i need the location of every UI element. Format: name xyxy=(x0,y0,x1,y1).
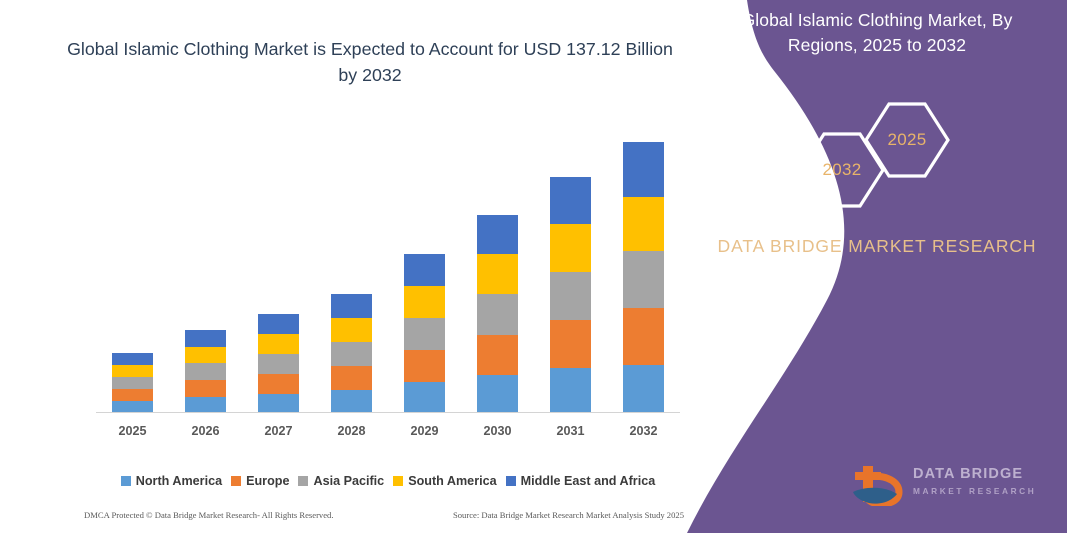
bar-segment xyxy=(404,318,445,350)
bar-column-2027 xyxy=(242,110,315,412)
bar-column-2031 xyxy=(534,110,607,412)
x-axis-label-2032: 2032 xyxy=(607,424,680,444)
bar-segment xyxy=(623,365,664,412)
db-monogram-icon xyxy=(851,462,909,506)
bar-segment xyxy=(112,365,153,377)
stacked-bar xyxy=(550,177,591,412)
bar-segment xyxy=(258,354,299,374)
bar-segment xyxy=(258,374,299,394)
bar-column-2025 xyxy=(96,110,169,412)
bar-segment xyxy=(550,272,591,320)
logo-wordmark: DATA BRIDGE MARKET RESEARCH xyxy=(913,466,1036,496)
legend-label: Asia Pacific xyxy=(313,474,384,488)
infographic-root: Global Islamic Clothing Market is Expect… xyxy=(0,0,1067,533)
bar-segment xyxy=(185,330,226,347)
bar-segment xyxy=(331,390,372,412)
bar-segment xyxy=(331,318,372,342)
legend-label: North America xyxy=(136,474,222,488)
legend-swatch-icon xyxy=(298,476,308,486)
legend-label: Middle East and Africa xyxy=(521,474,656,488)
bar-column-2029 xyxy=(388,110,461,412)
bar-segment xyxy=(623,251,664,308)
legend-label: Europe xyxy=(246,474,289,488)
bar-column-2026 xyxy=(169,110,242,412)
bar-segment xyxy=(258,394,299,412)
bar-segment xyxy=(623,142,664,197)
bar-segment xyxy=(112,377,153,389)
bar-segment xyxy=(477,375,518,412)
bar-segment xyxy=(477,254,518,294)
bar-segment xyxy=(112,353,153,365)
x-axis-label-2027: 2027 xyxy=(242,424,315,444)
stacked-bar xyxy=(331,294,372,412)
bar-segment xyxy=(477,335,518,375)
stacked-bar xyxy=(258,314,299,412)
x-axis-label-2029: 2029 xyxy=(388,424,461,444)
legend-item: South America xyxy=(393,474,496,488)
bar-segment xyxy=(550,224,591,272)
bar-segment xyxy=(185,347,226,364)
legend-swatch-icon xyxy=(393,476,403,486)
company-name: DATA BRIDGE MARKET RESEARCH xyxy=(707,232,1047,260)
stacked-bar xyxy=(623,142,664,412)
panel-content: Global Islamic Clothing Market, By Regio… xyxy=(687,0,1067,533)
bar-segment xyxy=(404,254,445,286)
bar-segment xyxy=(623,197,664,251)
bar-segment xyxy=(185,397,226,412)
bar-segment xyxy=(550,368,591,412)
stacked-bar xyxy=(185,330,226,412)
hexagon-badge-2032: 2032 xyxy=(797,130,887,210)
chart-legend: North AmericaEuropeAsia PacificSouth Ame… xyxy=(96,471,680,491)
bar-segment xyxy=(185,363,226,380)
logo-name-top: DATA BRIDGE xyxy=(913,466,1036,482)
bar-segment xyxy=(331,294,372,318)
legend-swatch-icon xyxy=(506,476,516,486)
x-axis-label-2025: 2025 xyxy=(96,424,169,444)
stacked-bar xyxy=(477,215,518,412)
chart-title: Global Islamic Clothing Market is Expect… xyxy=(60,36,680,88)
x-axis-label-2028: 2028 xyxy=(315,424,388,444)
legend-swatch-icon xyxy=(121,476,131,486)
legend-label: South America xyxy=(408,474,496,488)
x-axis-line xyxy=(96,412,680,413)
bar-segment xyxy=(550,320,591,368)
bar-column-2030 xyxy=(461,110,534,412)
logo-name-bottom: MARKET RESEARCH xyxy=(913,486,1036,496)
footer-copyright: DMCA Protected © Data Bridge Market Rese… xyxy=(84,510,334,520)
stacked-bar-chart xyxy=(96,110,680,412)
legend-item: North America xyxy=(121,474,222,488)
bar-segment xyxy=(404,350,445,382)
bar-segment xyxy=(550,177,591,224)
footer-source: Source: Data Bridge Market Research Mark… xyxy=(453,510,684,520)
bar-segment xyxy=(258,334,299,354)
bar-segment xyxy=(331,366,372,390)
bar-segment xyxy=(404,382,445,412)
bar-segment xyxy=(185,380,226,397)
hexagon-badges: 2025 2032 xyxy=(782,96,972,208)
legend-item: Europe xyxy=(231,474,289,488)
x-axis-label-2026: 2026 xyxy=(169,424,242,444)
legend-item: Middle East and Africa xyxy=(506,474,656,488)
x-axis-label-2031: 2031 xyxy=(534,424,607,444)
hexagon-label-2032: 2032 xyxy=(797,130,887,210)
footer: DMCA Protected © Data Bridge Market Rese… xyxy=(84,506,684,524)
x-axis-label-2030: 2030 xyxy=(461,424,534,444)
bar-segment xyxy=(477,215,518,254)
legend-item: Asia Pacific xyxy=(298,474,384,488)
bar-segment xyxy=(331,342,372,366)
legend-swatch-icon xyxy=(231,476,241,486)
panel-title: Global Islamic Clothing Market, By Regio… xyxy=(707,8,1047,58)
bar-segment xyxy=(404,286,445,318)
bar-segment xyxy=(112,401,153,412)
data-bridge-logo: DATA BRIDGE MARKET RESEARCH xyxy=(851,462,1047,510)
bar-segment xyxy=(112,389,153,401)
bar-column-2028 xyxy=(315,110,388,412)
bar-segment xyxy=(623,308,664,365)
bar-segment xyxy=(258,314,299,334)
stacked-bar xyxy=(112,353,153,412)
x-axis-labels: 20252026202720282029203020312032 xyxy=(96,424,680,444)
stacked-bar xyxy=(404,254,445,412)
bar-segment xyxy=(477,294,518,334)
bar-column-2032 xyxy=(607,110,680,412)
brand-panel: Global Islamic Clothing Market, By Regio… xyxy=(687,0,1067,533)
